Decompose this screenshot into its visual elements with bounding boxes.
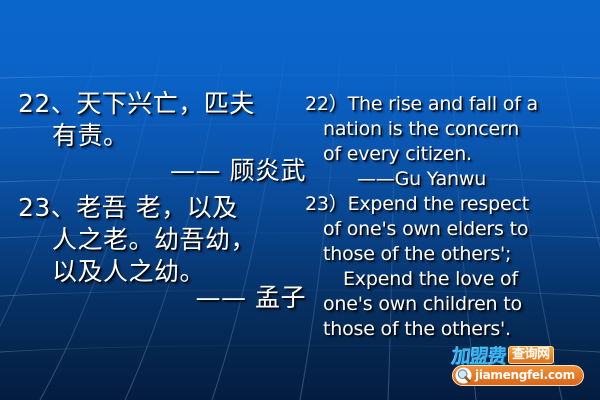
quote-23-cn-line-2: 人之老。幼吾幼， xyxy=(18,224,306,256)
quote-22-english: 22）The rise and fall of a nation is the … xyxy=(305,92,595,192)
magnifier-icon xyxy=(455,367,472,384)
quote-23-en-line-6: those of the others'. xyxy=(305,317,595,342)
quote-22-cn-attribution: —— 顾炎武 xyxy=(170,156,306,185)
quote-22-en-attribution: ——Gu Yanwu xyxy=(305,167,595,192)
watermark-top-row: 加盟费 查询网 xyxy=(452,344,554,366)
quote-23-cn-line-1: 23、老吾 老，以及 xyxy=(18,192,306,224)
quote-23-en-line-5: one's own children to xyxy=(305,292,595,317)
quote-23-en-line-1: 23）Expend the respect xyxy=(305,192,595,217)
quote-23-en-line-4: Expend the love of xyxy=(305,267,595,292)
english-text-column: 22）The rise and fall of a nation is the … xyxy=(305,0,595,400)
quote-23-en-line-3: those of the others'; xyxy=(305,242,595,267)
watermark-url-pill[interactable]: jiamengfei.com xyxy=(452,365,584,386)
quote-22-en-line-1: 22）The rise and fall of a xyxy=(305,92,595,117)
watermark-badge-label: 查询网 xyxy=(508,346,554,364)
quote-23-en-line-2: of one's own elders to xyxy=(305,217,595,242)
quote-23-cn-attribution-row: —— 孟子 xyxy=(18,282,312,314)
quote-22-chinese: 22、天下兴亡，匹夫 有责。 xyxy=(18,88,306,152)
quote-22-en-line-3: of every citizen. xyxy=(305,142,595,167)
quote-22-cn-attribution-row: —— 顾炎武 xyxy=(18,155,312,187)
quote-23-english: 23）Expend the respect of one's own elder… xyxy=(305,192,595,342)
quote-22-cn-line-1: 22、天下兴亡，匹夫 xyxy=(18,88,306,120)
site-watermark[interactable]: 加盟费 查询网 jiamengfei.com xyxy=(452,344,592,390)
quote-22-cn-line-2: 有责。 xyxy=(18,120,306,152)
presentation-slide: 22、天下兴亡，匹夫 有责。 —— 顾炎武 23、老吾 老，以及 人之老。幼吾幼… xyxy=(0,0,600,400)
watermark-url-text: jiamengfei.com xyxy=(475,369,575,382)
quote-23-cn-attribution: —— 孟子 xyxy=(196,283,306,312)
quote-22-en-line-2: nation is the concern xyxy=(305,117,595,142)
chinese-text-column: 22、天下兴亡，匹夫 有责。 —— 顾炎武 23、老吾 老，以及 人之老。幼吾幼… xyxy=(18,0,306,400)
quote-23-chinese: 23、老吾 老，以及 人之老。幼吾幼， 以及人之幼。 xyxy=(18,192,306,288)
